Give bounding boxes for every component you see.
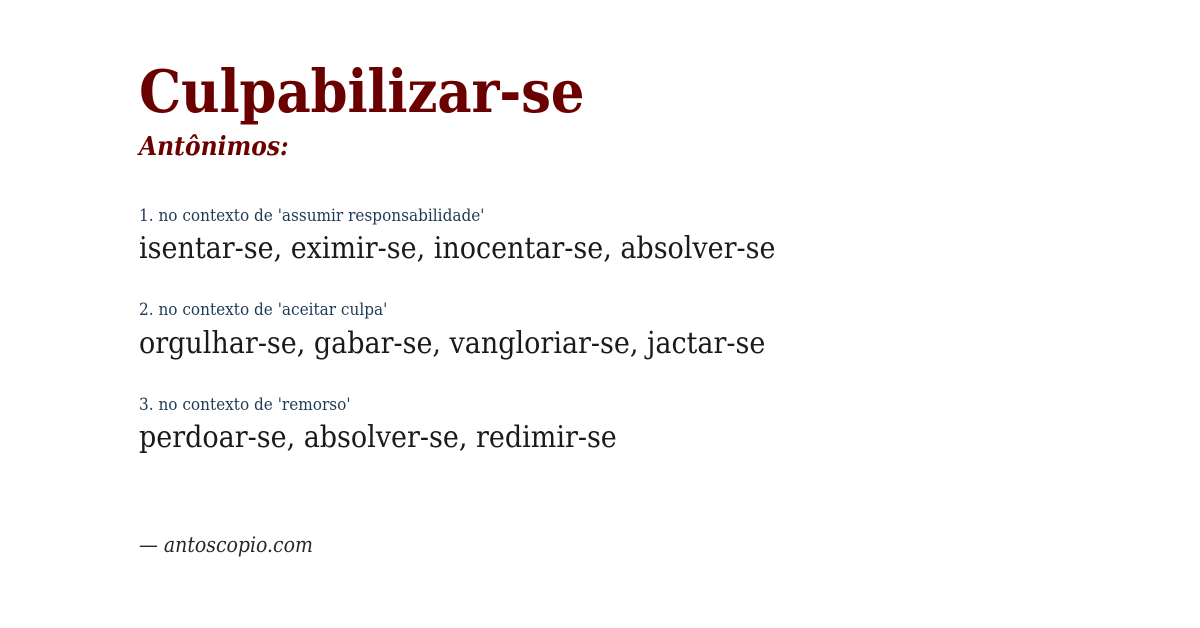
sense-entry: 3. no contexto de 'remorso' perdoar-se, … xyxy=(139,395,1160,457)
page-title: Culpabilizar-se xyxy=(139,62,1160,121)
sense-list: 1. no contexto de 'assumir responsabilid… xyxy=(139,206,1160,457)
sense-entry: 1. no contexto de 'assumir responsabilid… xyxy=(139,206,1160,268)
sense-antonym-words: isentar-se, eximir-se, inocentar-se, abs… xyxy=(139,229,1160,268)
card-header: Culpabilizar-se Antônimos: xyxy=(139,62,1160,160)
antonyms-card: Culpabilizar-se Antônimos: 1. no context… xyxy=(0,0,1200,628)
card-footer: — antoscopio.com xyxy=(139,533,313,557)
section-subtitle: Antônimos: xyxy=(139,134,1160,160)
sense-antonym-words: orgulhar-se, gabar-se, vangloriar-se, ja… xyxy=(139,324,1160,363)
sense-context-label: 2. no contexto de 'aceitar culpa' xyxy=(139,300,1160,321)
sense-context-label: 1. no contexto de 'assumir responsabilid… xyxy=(139,206,1160,227)
source-attribution: — antoscopio.com xyxy=(139,533,313,557)
sense-context-label: 3. no contexto de 'remorso' xyxy=(139,395,1160,416)
sense-antonym-words: perdoar-se, absolver-se, redimir-se xyxy=(139,418,1160,457)
sense-entry: 2. no contexto de 'aceitar culpa' orgulh… xyxy=(139,300,1160,362)
